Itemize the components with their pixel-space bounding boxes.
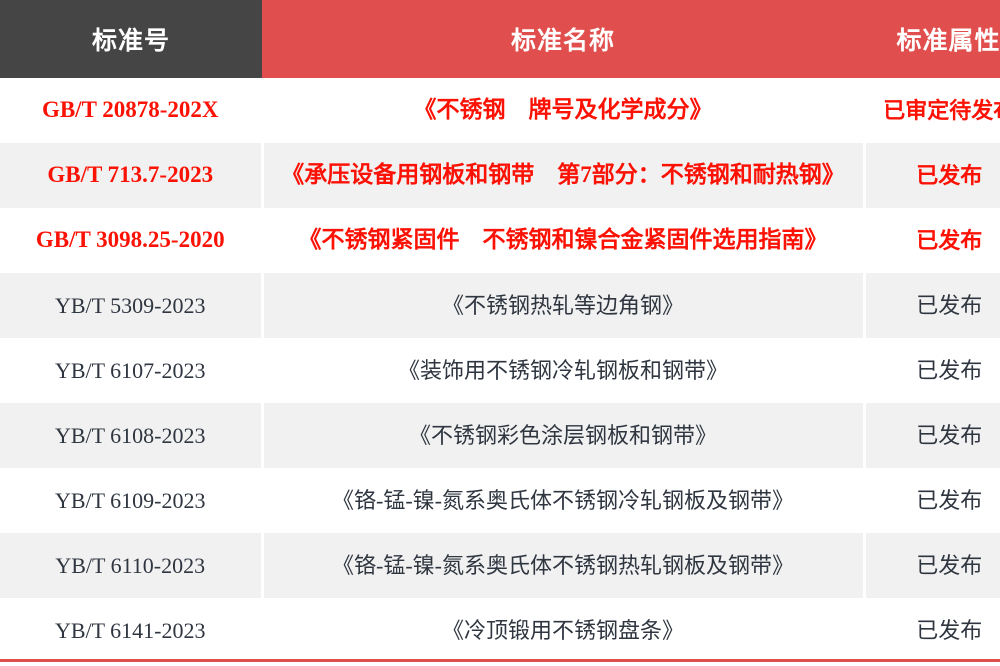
cell-standard-name: 《装饰用不锈钢冷轧钢板和钢带》 — [262, 338, 864, 403]
table-row: YB/T 6108-2023《不锈钢彩色涂层钢板和钢带》已发布 — [0, 403, 1000, 468]
column-header-standard-attribute: 标准属性 — [864, 0, 1000, 78]
cell-standard-name: 《不锈钢 牌号及化学成分》 — [262, 78, 864, 143]
cell-standard-attribute: 已发布 — [864, 338, 1000, 403]
cell-standard-number: YB/T 5309-2023 — [0, 273, 262, 338]
cell-standard-name: 《铬-锰-镍-氮系奥氏体不锈钢热轧钢板及钢带》 — [262, 533, 864, 598]
standards-table: 标准号 标准名称 标准属性 GB/T 20878-202X《不锈钢 牌号及化学成… — [0, 0, 1000, 663]
table-row: YB/T 6110-2023《铬-锰-镍-氮系奥氏体不锈钢热轧钢板及钢带》已发布 — [0, 533, 1000, 598]
cell-standard-name: 《不锈钢彩色涂层钢板和钢带》 — [262, 403, 864, 468]
standards-table-container: 标准号 标准名称 标准属性 GB/T 20878-202X《不锈钢 牌号及化学成… — [0, 0, 1000, 666]
table-row: GB/T 713.7-2023《承压设备用钢板和钢带 第7部分：不锈钢和耐热钢》… — [0, 143, 1000, 208]
cell-standard-attribute: 已审定待发布 — [864, 78, 1000, 143]
bottom-red-rule — [0, 659, 1000, 662]
column-header-standard-name: 标准名称 — [262, 0, 864, 78]
cell-standard-name: 《铬-锰-镍-氮系奥氏体不锈钢冷轧钢板及钢带》 — [262, 468, 864, 533]
cell-standard-attribute: 已发布 — [864, 273, 1000, 338]
cell-standard-number: YB/T 6109-2023 — [0, 468, 262, 533]
cell-standard-attribute: 已发布 — [864, 468, 1000, 533]
cell-standard-name: 《不锈钢紧固件 不锈钢和镍合金紧固件选用指南》 — [262, 208, 864, 273]
table-header-row: 标准号 标准名称 标准属性 — [0, 0, 1000, 78]
table-header: 标准号 标准名称 标准属性 — [0, 0, 1000, 78]
cell-standard-attribute: 已发布 — [864, 533, 1000, 598]
cell-standard-name: 《承压设备用钢板和钢带 第7部分：不锈钢和耐热钢》 — [262, 143, 864, 208]
cell-standard-attribute: 已发布 — [864, 208, 1000, 273]
cell-standard-number: GB/T 713.7-2023 — [0, 143, 262, 208]
table-row: GB/T 20878-202X《不锈钢 牌号及化学成分》已审定待发布 — [0, 78, 1000, 143]
table-row: YB/T 6107-2023《装饰用不锈钢冷轧钢板和钢带》已发布 — [0, 338, 1000, 403]
cell-standard-attribute: 已发布 — [864, 403, 1000, 468]
table-row: YB/T 6109-2023《铬-锰-镍-氮系奥氏体不锈钢冷轧钢板及钢带》已发布 — [0, 468, 1000, 533]
cell-standard-number: YB/T 6141-2023 — [0, 598, 262, 663]
cell-standard-name: 《冷顶锻用不锈钢盘条》 — [262, 598, 864, 663]
column-header-standard-number: 标准号 — [0, 0, 262, 78]
table-row: YB/T 6141-2023《冷顶锻用不锈钢盘条》已发布 — [0, 598, 1000, 663]
cell-standard-attribute: 已发布 — [864, 143, 1000, 208]
cell-standard-attribute: 已发布 — [864, 598, 1000, 663]
cell-standard-number: GB/T 3098.25-2020 — [0, 208, 262, 273]
cell-standard-number: YB/T 6108-2023 — [0, 403, 262, 468]
cell-standard-name: 《不锈钢热轧等边角钢》 — [262, 273, 864, 338]
table-row: YB/T 5309-2023《不锈钢热轧等边角钢》已发布 — [0, 273, 1000, 338]
cell-standard-number: YB/T 6107-2023 — [0, 338, 262, 403]
table-body: GB/T 20878-202X《不锈钢 牌号及化学成分》已审定待发布GB/T 7… — [0, 78, 1000, 663]
cell-standard-number: YB/T 6110-2023 — [0, 533, 262, 598]
cell-standard-number: GB/T 20878-202X — [0, 78, 262, 143]
table-row: GB/T 3098.25-2020《不锈钢紧固件 不锈钢和镍合金紧固件选用指南》… — [0, 208, 1000, 273]
